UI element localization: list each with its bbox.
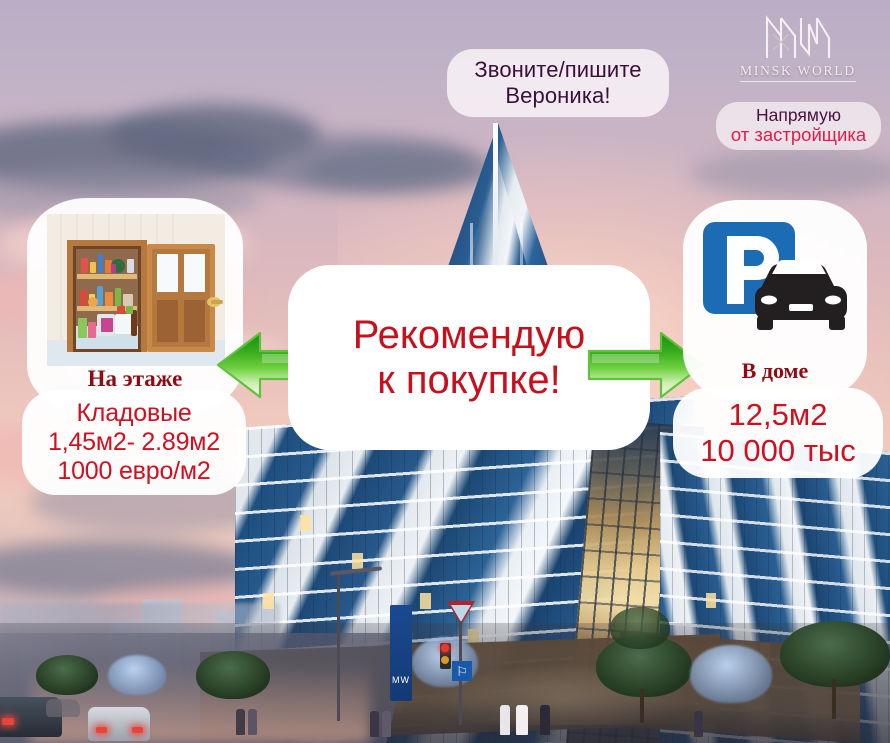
- car-taillight: [132, 727, 143, 733]
- badge-line-2: от застройщика: [731, 125, 866, 146]
- brand-wordmark: MINSK WORLD: [740, 63, 856, 82]
- tree-trunk: [832, 679, 836, 719]
- pedestrian: [382, 711, 391, 737]
- car-taillight: [2, 718, 14, 725]
- storage-detail-line-3: 1000 евро/м2: [57, 457, 210, 486]
- tree: [610, 607, 670, 649]
- right-card-title: В доме: [683, 358, 867, 384]
- parking-details-box: 12,5м2 10 000 тыс: [673, 388, 883, 478]
- parking-card: В доме: [683, 200, 867, 400]
- storage-room-card: На этаже: [27, 198, 243, 413]
- traffic-light-red-icon: [441, 644, 449, 652]
- car-taillight: [96, 727, 107, 733]
- parking-detail-line-2: 10 000 тыс: [700, 433, 855, 469]
- storage-detail-line-2: 1,45м2- 2.89м2: [48, 428, 220, 457]
- parking-detail-line-1: 12,5м2: [729, 397, 828, 433]
- lit-window: [263, 593, 274, 609]
- yield-sign-inner: [451, 605, 471, 622]
- pedestrian: [248, 709, 257, 735]
- storage-details-box: Кладовые 1,45м2- 2.89м2 1000 евро/м2: [22, 390, 246, 495]
- pedestrian: [516, 705, 528, 735]
- lamp-post: [337, 571, 340, 721]
- contact-callout-bubble: Звоните/пишите Вероника!: [447, 49, 669, 117]
- recommendation-line-1: Рекомендую: [353, 313, 586, 358]
- street-banner: MW: [390, 605, 412, 701]
- banner-text: MW: [390, 675, 412, 685]
- lit-window: [300, 515, 311, 531]
- pedestrian: [694, 711, 703, 737]
- blossom-tree: [108, 655, 166, 695]
- pedestrian-crossing-icon: ⚐: [452, 661, 472, 681]
- tree: [780, 621, 890, 687]
- pedestrian: [540, 705, 550, 735]
- tree: [36, 655, 98, 695]
- car: [46, 699, 80, 717]
- pedestrian: [500, 705, 510, 735]
- poster-canvas: MW ⚐ Звоните/пишите Вероника!: [0, 0, 890, 743]
- lit-window: [706, 593, 716, 608]
- storage-detail-line-1: Кладовые: [76, 399, 191, 428]
- traffic-light-amber-icon: [441, 656, 449, 664]
- brand-logo: MINSK WORLD: [718, 14, 878, 96]
- car: [88, 707, 150, 741]
- recommendation-line-2: к покупке!: [377, 358, 560, 403]
- blossom-tree: [690, 645, 772, 703]
- pedestrian: [370, 711, 379, 737]
- parking-sign-with-car-icon: [699, 220, 851, 348]
- direct-from-developer-badge: Напрямую от застройщика: [716, 102, 881, 150]
- tree-trunk: [640, 689, 644, 723]
- lit-window: [352, 553, 363, 569]
- contact-line-2: Вероника!: [505, 83, 610, 109]
- pedestrian: [236, 709, 245, 735]
- lit-window: [420, 593, 431, 609]
- badge-line-1: Напрямую: [756, 106, 841, 126]
- open-pantry-door-icon: [47, 214, 225, 366]
- mw-monogram-icon: [761, 14, 835, 60]
- tree: [196, 651, 270, 699]
- left-card-title: На этаже: [27, 366, 243, 392]
- contact-line-1: Звоните/пишите: [474, 57, 641, 83]
